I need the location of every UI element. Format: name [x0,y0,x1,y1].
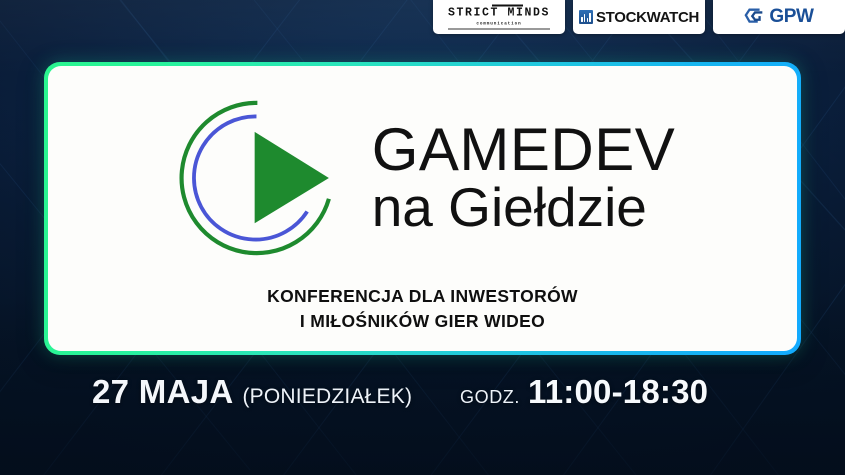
sponsor-card-gpw[interactable]: GPW [713,0,845,34]
play-button-circle-icon [170,92,352,264]
brand-title-line2: na Giełdzie [372,181,676,235]
gpw-logo-text: GPW [769,6,813,28]
event-time-block: GODZ. 11:00-18:30 [460,373,708,429]
strict-minds-logo-title: STRICT MINDS [448,8,550,20]
event-date: 27 MAJA [92,373,233,411]
conference-subtitle-line2: I MIŁOŚNIKÓW GIER WIDEO [267,309,578,334]
main-banner-card: GAMEDEV na Giełdzie KONFERENCJA DLA INWE… [44,62,801,355]
event-time-range: 11:00-18:30 [528,373,708,411]
brand-title-line1: GAMEDEV [372,121,676,180]
gpw-spiral-icon [744,6,766,28]
stockwatch-logo-text: STOCKWATCH [596,9,699,26]
brand-wordmark: GAMEDEV na Giełdzie [372,121,676,236]
brand-logo-row: GAMEDEV na Giełdzie [170,92,676,264]
event-day-of-week: (PONIEDZIAŁEK) [242,385,412,409]
sponsor-logo-strip: STRICT MINDS communication STOCKWATCH GP… [433,0,845,34]
conference-subtitle-line1: KONFERENCJA DLA INWESTORÓW [267,284,578,309]
conference-subtitle: KONFERENCJA DLA INWESTORÓW I MIŁOŚNIKÓW … [267,284,578,334]
bar-chart-icon [579,10,593,24]
strict-minds-logo-subtitle: communication [448,22,550,29]
event-date-block: 27 MAJA (PONIEDZIAŁEK) [92,373,412,429]
sponsor-card-stockwatch[interactable]: STOCKWATCH [573,0,705,34]
sponsor-card-strict-minds[interactable]: STRICT MINDS communication [433,0,565,34]
event-footer: 27 MAJA (PONIEDZIAŁEK) GODZ. 11:00-18:30 [0,373,845,429]
main-banner-card-inner: GAMEDEV na Giełdzie KONFERENCJA DLA INWE… [48,66,797,351]
event-time-label: GODZ. [460,387,520,408]
